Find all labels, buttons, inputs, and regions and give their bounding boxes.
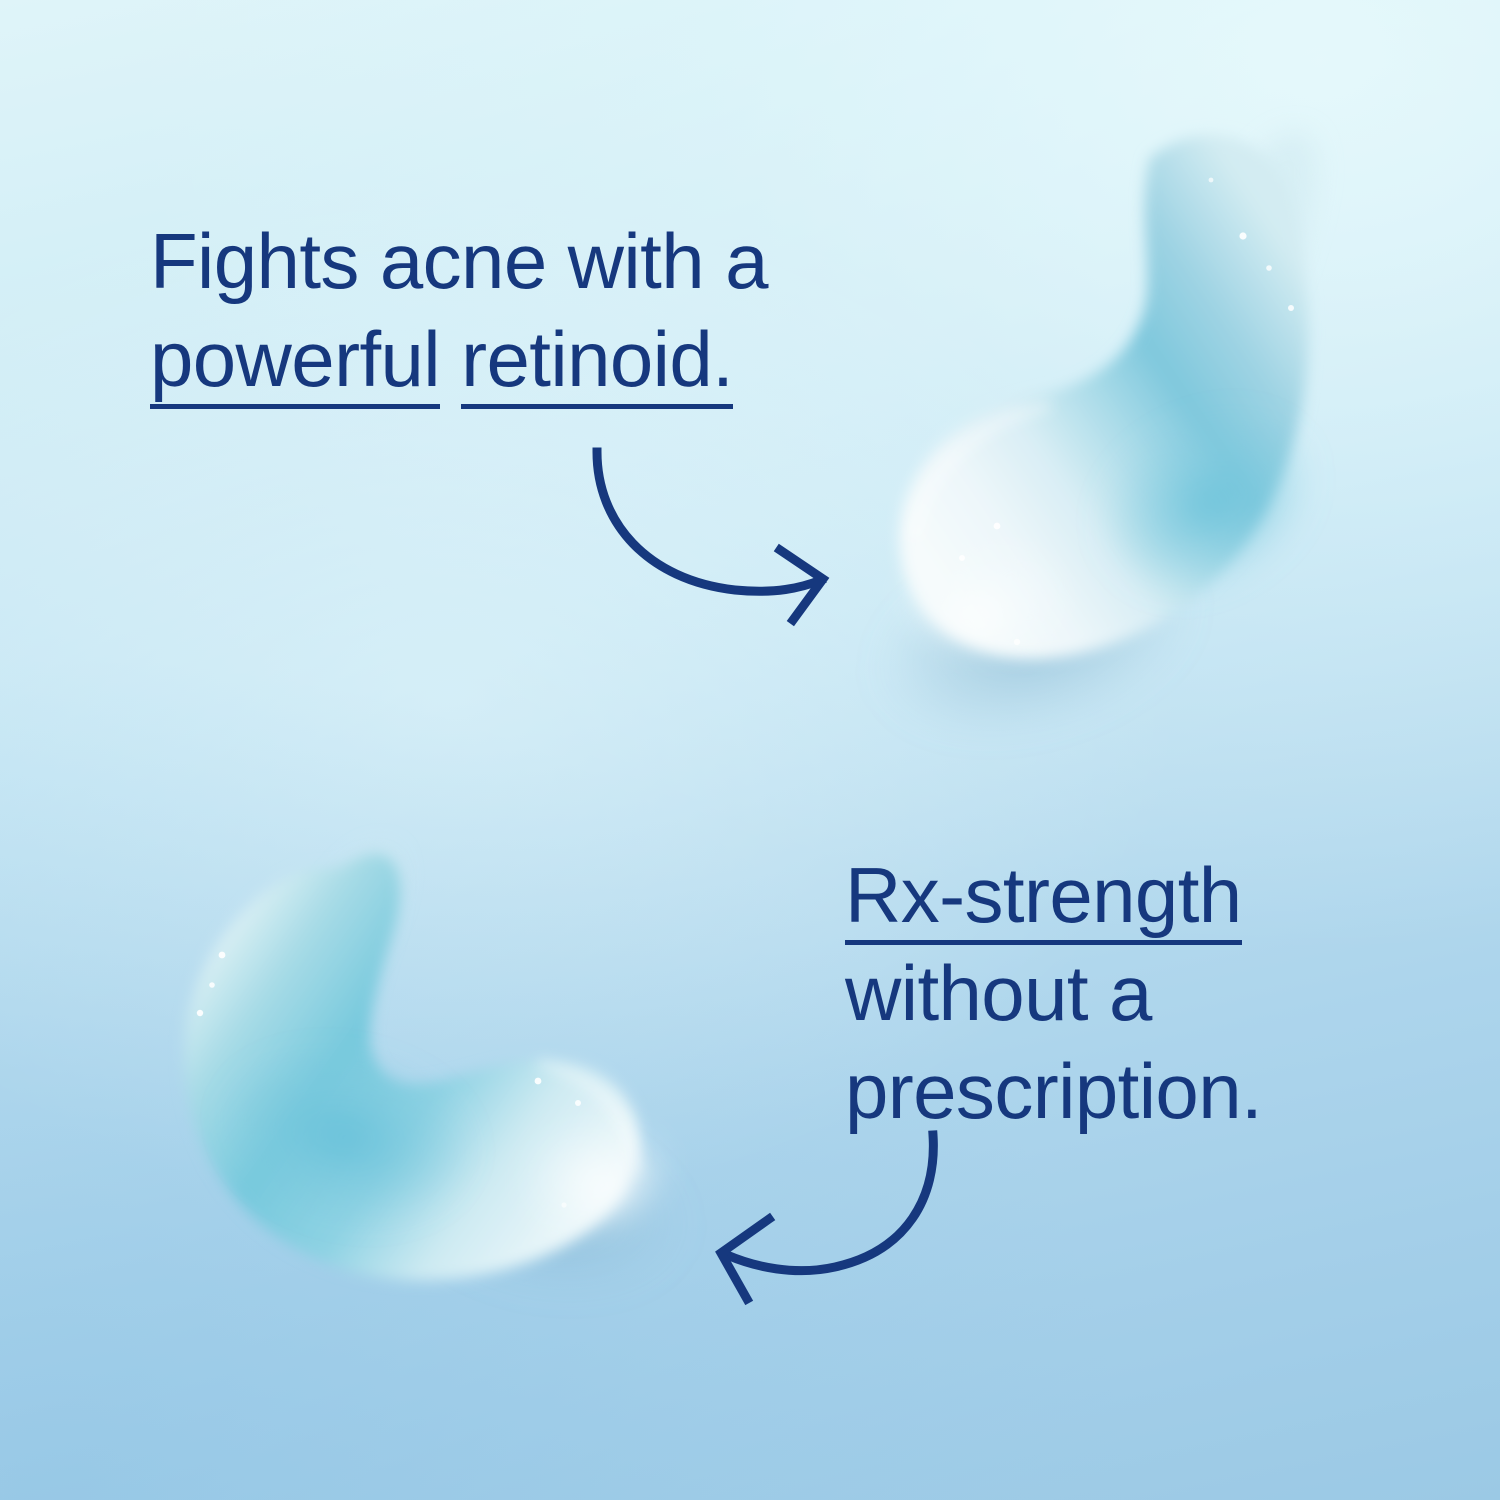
headline-top-line2: powerful retinoid. bbox=[150, 320, 768, 398]
headline-top-underlined-word2: retinoid. bbox=[461, 320, 733, 398]
headline-top-line1: Fights acne with a bbox=[150, 222, 768, 300]
product-benefit-graphic: Fights acne with a powerful retinoid. Rx… bbox=[0, 0, 1500, 1500]
headline-bottom-line2: without a bbox=[845, 954, 1262, 1032]
headline-top-underlined-word1: powerful bbox=[150, 320, 440, 398]
headline-bottom: Rx-strength without a prescription. bbox=[845, 856, 1262, 1130]
headline-bottom-line1: Rx-strength bbox=[845, 856, 1262, 934]
headline-bottom-line3: prescription. bbox=[845, 1052, 1262, 1130]
headline-top: Fights acne with a powerful retinoid. bbox=[150, 222, 768, 398]
headline-bottom-underlined-phrase: Rx-strength bbox=[845, 856, 1242, 934]
